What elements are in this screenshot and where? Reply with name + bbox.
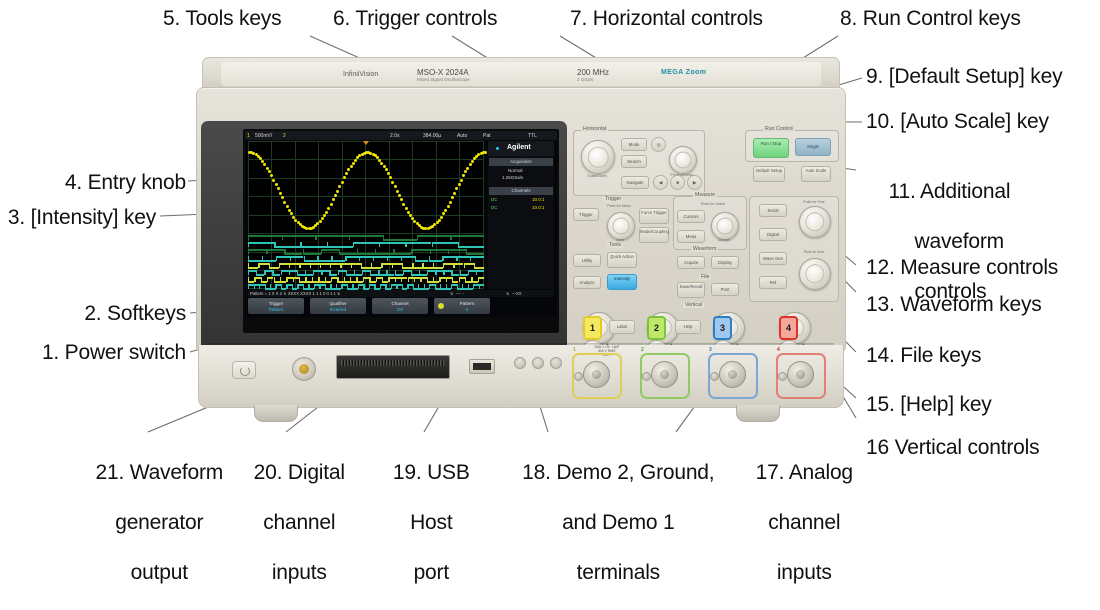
callout-20-line1: 20. Digital — [254, 461, 345, 484]
analog-input-bnc-1[interactable]: 1 — [572, 353, 618, 395]
sidebar-acq-mode: Normal — [508, 168, 523, 173]
display-button[interactable]: Display — [711, 256, 739, 269]
callout-6: 6. Trigger controls — [333, 6, 497, 31]
softkey-1-line2: Pattern — [248, 307, 304, 312]
case-leg-right — [736, 405, 780, 422]
status-ch2: 2 — [283, 133, 286, 139]
mode-coupling-button[interactable]: Mode/Coupling — [639, 227, 669, 243]
navigate-button[interactable]: Navigate — [621, 176, 649, 189]
analog-input-bnc-3[interactable]: 3 — [708, 353, 754, 395]
callout-20-line2: channel — [263, 511, 335, 534]
softkey-4-line2: 0 — [444, 307, 490, 312]
display-bezel: 1 500mV/ 2 2.0s 384.00µ Auto Pat TTL — [201, 121, 567, 353]
single-button[interactable]: Single — [795, 138, 831, 156]
brand-infiniivision: InfiniiVision — [343, 71, 378, 78]
callout-2: 2. Softkeys — [10, 301, 186, 326]
meas-button[interactable]: Meas — [677, 230, 705, 243]
sidebar-ch1-coupling: DC — [491, 197, 498, 202]
callout-1: 1. Power switch — [0, 340, 186, 365]
callout-10: 10. [Auto Scale] key — [866, 109, 1049, 134]
save-recall-button[interactable]: Save/Recall — [677, 282, 705, 298]
screen-status-bar: 1 500mV/ 2 2.0s 384.00µ Auto Pat TTL — [245, 131, 557, 140]
softkey-3-line1: Channel — [372, 301, 428, 306]
channel-2-button[interactable]: 2 — [647, 316, 666, 340]
brand-model-sub: Mixed Signal Oscilloscope — [417, 77, 470, 82]
callout-8: 8. Run Control keys — [840, 6, 1021, 31]
callout-17-line3: inputs — [777, 561, 832, 584]
pattern-status-line: Pattern = 1 X X 2 ↯ XXXX XXXX 1 1 1 0 0 … — [248, 290, 554, 297]
status-mode: Auto — [457, 133, 467, 139]
group-tools-label: Tools — [607, 242, 623, 248]
measure-cursors-caption: Cursors — [709, 238, 739, 242]
pattern-right2: ↯ ---XX — [506, 291, 522, 296]
softkey-4-line1: Pattern — [444, 301, 490, 306]
callout-14: 14. File keys — [866, 343, 981, 368]
pattern-right1: ↯ ---··· — [450, 291, 464, 296]
callout-18-line1: 18. Demo 2, Ground, — [522, 461, 714, 484]
softkey-3[interactable]: Channel D0 — [372, 298, 428, 314]
megazoom-logo: MEGA Zoom — [661, 69, 706, 76]
channel-4-button[interactable]: 4 — [779, 316, 798, 340]
callout-19-line1: 19. USB — [393, 461, 470, 484]
power-switch[interactable] — [232, 361, 256, 379]
demo2-terminal[interactable] — [514, 357, 526, 369]
trigger-level-knob[interactable] — [607, 212, 635, 240]
callout-18: 18. Demo 2, Ground, and Demo 1 terminals — [492, 435, 722, 610]
sunburst-icon — [493, 144, 502, 153]
horizontal-scale-caption: Scale/Zoom — [579, 174, 615, 178]
callout-18-line2: and Demo 1 — [562, 511, 674, 534]
cursors-button[interactable]: Cursors — [677, 210, 705, 223]
callout-18-line3: terminals — [577, 561, 660, 584]
channel-1-button[interactable]: 1 — [583, 316, 602, 340]
print-button[interactable]: Print — [711, 283, 739, 296]
status-delay: 384.00µ — [423, 133, 441, 139]
status-ch1: 1 — [247, 133, 250, 139]
agilent-logo-text: Agilent — [507, 144, 531, 151]
additional-knob-upper-caption: Push for Fine — [793, 200, 835, 204]
utility-button[interactable]: Utility — [573, 254, 601, 267]
sidebar-acquisition-header[interactable]: Acquisition — [489, 158, 553, 166]
group-file-label: File — [699, 274, 711, 280]
control-panel: Horizontal Scale/Zoom Mode Search ◎ Posi… — [573, 124, 839, 350]
sidebar-ch2-coupling: DC — [491, 205, 498, 210]
label-button[interactable]: Label — [609, 320, 635, 334]
callout-15: 15. [Help] key — [866, 392, 992, 417]
callout-19: 19. USB Host port — [368, 435, 472, 610]
analog-input-bnc-2[interactable]: 2 — [640, 353, 686, 395]
callout-20-line3: inputs — [272, 561, 327, 584]
digital-button[interactable]: Digital — [759, 228, 787, 241]
additional-knob-upper[interactable] — [799, 206, 831, 238]
horizontal-scale-knob[interactable] — [581, 140, 615, 174]
quick-action-button[interactable]: Quick Action — [607, 252, 637, 268]
trigger-menu-button[interactable]: Trigger — [573, 208, 599, 221]
status-ch1-scale: 500mV/ — [255, 133, 272, 139]
callout-7: 7. Horizontal controls — [570, 6, 763, 31]
auto-scale-button[interactable]: Auto Scale — [801, 166, 831, 182]
status-coupling: TTL — [528, 133, 537, 139]
callout-12: 12. Measure controls — [866, 255, 1058, 280]
analog-channel-1-trace — [248, 145, 484, 233]
nav-stop-icon[interactable]: ■ — [670, 175, 685, 190]
pattern-text: Pattern = 1 X X 2 ↯ XXXX XXXX 1 1 1 0 0 … — [250, 291, 340, 296]
screen-sidebar: Agilent Acquisition Normal 1.25GSa/s Cha… — [488, 141, 554, 289]
softkey-4[interactable]: Pattern 0 — [434, 298, 490, 314]
wave-gen-button[interactable]: Wave Gen — [759, 252, 787, 265]
oscilloscope-front-panel: InfiniiVision MSO-X 2024A Mixed Signal O… — [196, 57, 844, 387]
brand-samplerate: 2 GSa/s — [577, 77, 593, 82]
oscilloscope-screen[interactable]: 1 500mV/ 2 2.0s 384.00µ Auto Pat TTL — [245, 131, 557, 317]
digital-channel-traces — [248, 235, 484, 289]
serial-button[interactable]: Serial — [759, 204, 787, 217]
zoom-icon[interactable]: ◎ — [651, 137, 666, 152]
callout-20: 20. Digital channel inputs — [222, 435, 354, 610]
bnc-2-label: 2 — [641, 347, 644, 353]
figure-canvas: 5. Tools keys 6. Trigger controls 7. Hor… — [0, 0, 1100, 532]
horizontal-search-button[interactable]: Search — [621, 155, 647, 168]
digital-channel-inputs[interactable] — [336, 355, 450, 379]
acquire-button[interactable]: Acquire — [677, 256, 705, 269]
softkey-1-line1: Trigger — [248, 301, 304, 306]
case-top: InfiniiVision MSO-X 2024A Mixed Signal O… — [202, 57, 840, 90]
agilent-logo-block: Agilent — [488, 141, 554, 156]
callout-9: 9. [Default Setup] key — [866, 64, 1062, 89]
brand-bar: InfiniiVision MSO-X 2024A Mixed Signal O… — [221, 62, 821, 86]
callout-21-line3: output — [131, 561, 188, 584]
group-waveform-label: Waveform — [691, 246, 718, 252]
waveform-generator-output[interactable] — [292, 357, 316, 381]
callout-11-line2: waveform — [915, 229, 1004, 254]
help-button[interactable]: Help — [675, 320, 701, 334]
brand-model: MSO-X 2024A — [417, 68, 469, 77]
status-trig-src: Pat — [483, 133, 491, 139]
group-run-control-label: Run Control — [763, 126, 795, 132]
intensity-key[interactable]: Intensity — [607, 274, 637, 290]
analog-input-bnc-4[interactable]: 4 — [776, 353, 822, 395]
status-timebase: 2.0s — [390, 133, 399, 139]
usb-host-port[interactable] — [469, 359, 495, 374]
softkey-2[interactable]: Qualifier Entered — [310, 298, 366, 314]
bnc-1-label: 1 — [573, 347, 576, 353]
brand-bandwidth: 200 MHz — [577, 68, 609, 77]
callout-16: 16 Vertical controls — [866, 435, 1039, 460]
callout-17-line1: 17. Analog — [756, 461, 853, 484]
case-body: 1 500mV/ 2 2.0s 384.00µ Auto Pat TTL — [196, 87, 846, 354]
nav-forward-icon[interactable]: ▶ — [687, 175, 702, 190]
callout-19-line2: Host — [410, 511, 452, 534]
softkey-2-line1: Qualifier — [310, 301, 366, 306]
callout-21: 21. Waveform generator output — [62, 435, 234, 610]
softkey-2-line2: Entered — [310, 307, 366, 312]
callout-3: 3. [Intensity] key — [0, 205, 156, 230]
horizontal-position-knob[interactable] — [669, 146, 697, 174]
callout-21-line2: generator — [115, 511, 203, 534]
sidebar-ch1-value: 10.0:1 — [532, 197, 545, 202]
trigger-push-caption: Push for Menu — [597, 204, 641, 208]
sidebar-ch2-value: 10.0:1 — [532, 205, 545, 210]
ref-button[interactable]: Ref — [759, 276, 787, 289]
measure-push-caption: Push for Select — [689, 202, 737, 206]
measure-cursors-knob[interactable] — [711, 212, 739, 240]
callout-4: 4. Entry knob — [10, 170, 186, 195]
default-setup-button[interactable]: Default Setup — [753, 166, 785, 182]
bnc-4-label: 4 — [777, 347, 780, 353]
group-trigger-label: Trigger — [603, 196, 623, 202]
screen-softkey-row: Trigger Pattern Qualifier Entered Channe… — [248, 298, 554, 314]
callout-21-line1: 21. Waveform — [96, 461, 224, 484]
callout-17: 17. Analog channel inputs — [730, 435, 856, 610]
nav-back-icon[interactable]: ◀ — [653, 175, 668, 190]
analyze-button[interactable]: Analyze — [573, 276, 601, 289]
callout-5: 5. Tools keys — [163, 6, 281, 31]
callout-17-line2: channel — [768, 511, 840, 534]
callout-19-line3: port — [414, 561, 449, 584]
softkey-1[interactable]: Trigger Pattern — [248, 298, 304, 314]
group-vertical-label: Vertical — [683, 302, 704, 308]
additional-knob-lower-caption: Push to Zero — [793, 250, 835, 254]
group-measure-label: Measure — [693, 192, 717, 198]
ground-terminal[interactable] — [532, 357, 544, 369]
channel-3-button[interactable]: 3 — [713, 316, 732, 340]
sidebar-channels-header[interactable]: Channels — [489, 187, 553, 195]
softkey-3-line2: D0 — [372, 307, 428, 312]
group-horizontal-label: Horizontal — [581, 126, 608, 132]
case-leg-left — [254, 405, 298, 422]
horizontal-mode-button[interactable]: Mode — [621, 138, 647, 151]
bnc-3-label: 3 — [709, 347, 712, 353]
callout-13: 13. Waveform keys — [866, 292, 1042, 317]
demo1-terminal[interactable] — [550, 357, 562, 369]
callout-11-line1: 11. Additional — [889, 180, 1011, 203]
additional-knob-lower[interactable] — [799, 258, 831, 290]
force-trigger-button[interactable]: Force Trigger — [639, 208, 669, 224]
run-stop-button[interactable]: Run / Stop — [753, 138, 789, 158]
sidebar-acq-rate: 1.25GSa/s — [502, 175, 523, 180]
